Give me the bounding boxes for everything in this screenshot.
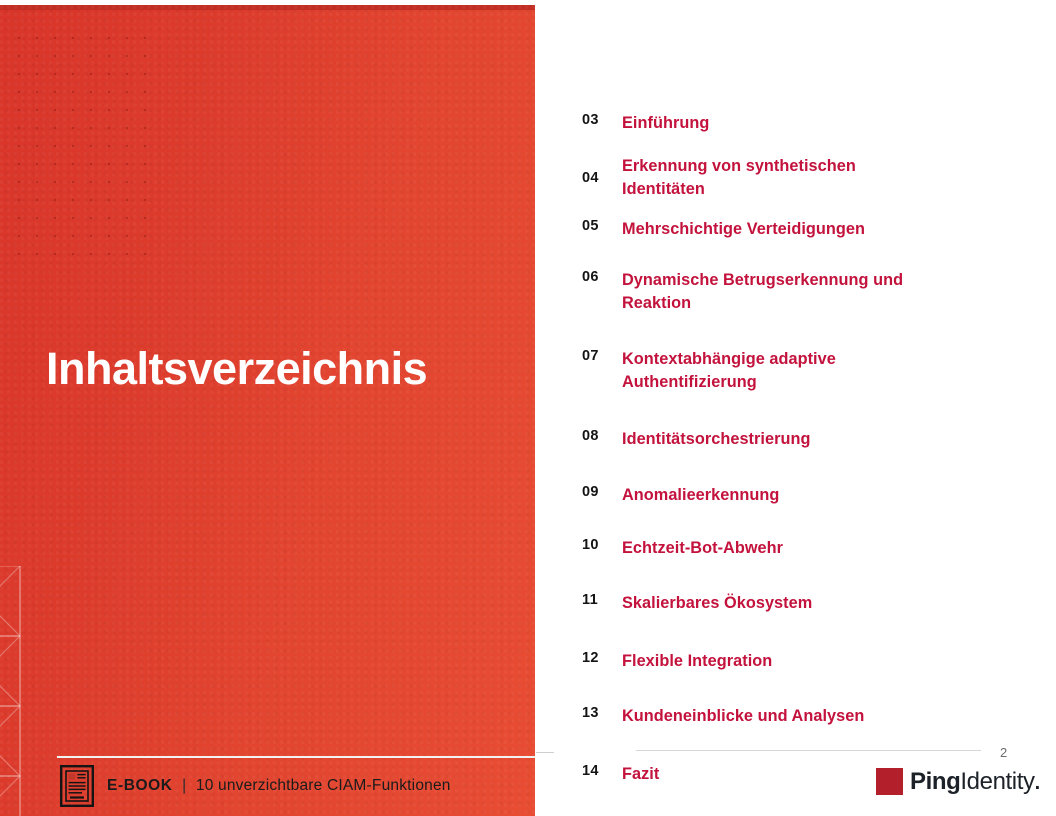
toc-entry[interactable]: 07 Kontextabhängige adaptive Authentifiz… xyxy=(560,348,1020,394)
toc-entry[interactable]: 11 Skalierbares Ökosystem xyxy=(560,592,1020,615)
toc-title[interactable]: Dynamische Betrugserkennung und Reaktion xyxy=(622,269,967,315)
toc-number: 07 xyxy=(560,348,622,364)
toc-title[interactable]: Erkennung von synthetischen Identitäten xyxy=(622,155,922,201)
document-icon xyxy=(60,765,94,807)
page-number: 2 xyxy=(1000,745,1007,760)
left-red-panel: Inhaltsverzeichnis E-BOOK | xyxy=(0,5,535,816)
toc-entry[interactable]: 13 Kundeneinblicke und Analysen xyxy=(560,705,1020,728)
toc-number: 13 xyxy=(560,705,622,721)
toc-number: 14 xyxy=(560,763,622,779)
brand-name-identity: Identity xyxy=(960,768,1034,795)
toc-title[interactable]: Anomalieerkennung xyxy=(622,484,1020,507)
panel-top-edge xyxy=(0,5,535,10)
toc-number: 10 xyxy=(560,537,622,553)
toc-title[interactable]: Kundeneinblicke und Analysen xyxy=(622,705,1020,728)
brand-dot: . xyxy=(1035,772,1040,794)
toc-title[interactable]: Skalierbares Ökosystem xyxy=(622,592,1020,615)
toc-entry[interactable]: 12 Flexible Integration xyxy=(560,650,1020,673)
toc-number: 12 xyxy=(560,650,622,666)
toc-title[interactable]: Identitätsorchestrierung xyxy=(622,428,1020,451)
toc-entry[interactable]: 10 Echtzeit-Bot-Abwehr xyxy=(560,537,1020,560)
toc-title[interactable]: Flexible Integration xyxy=(622,650,1020,673)
toc-number: 09 xyxy=(560,484,622,500)
toc-entry[interactable]: 09 Anomalieerkennung xyxy=(560,484,1020,507)
panel-footer-divider xyxy=(57,756,535,758)
toc-entry[interactable]: 08 Identitätsorchestrierung xyxy=(560,428,1020,451)
ebook-footer-text: E-BOOK | 10 unverzichtbare CIAM-Funktion… xyxy=(107,777,451,795)
toc-number: 04 xyxy=(560,155,622,186)
toc-number: 08 xyxy=(560,428,622,444)
ebook-label: E-BOOK xyxy=(107,777,173,794)
dot-grid-decoration xyxy=(8,27,160,259)
toc-entry[interactable]: 03 Einführung xyxy=(560,112,1020,135)
ebook-footer: E-BOOK | 10 unverzichtbare CIAM-Funktion… xyxy=(60,765,451,807)
page-title: Inhaltsverzeichnis xyxy=(46,344,427,394)
footer-divider-stub xyxy=(536,752,554,753)
ebook-separator: | xyxy=(177,777,191,794)
toc-title[interactable]: Echtzeit-Bot-Abwehr xyxy=(622,537,1020,560)
toc-number: 11 xyxy=(560,592,622,608)
toc-entry[interactable]: 05 Mehrschichtige Verteidigungen xyxy=(560,218,1020,241)
toc-entry[interactable]: 04 Erkennung von synthetischen Identität… xyxy=(560,155,1020,201)
table-of-contents: 03 Einführung 04 Erkennung von synthetis… xyxy=(560,104,1020,786)
brand-name-ping: Ping xyxy=(910,768,960,795)
toc-title[interactable]: Mehrschichtige Verteidigungen xyxy=(622,218,1020,241)
toc-number: 05 xyxy=(560,218,622,234)
ping-square-icon xyxy=(876,768,903,795)
ebook-subtitle: 10 unverzichtbare CIAM-Funktionen xyxy=(196,777,451,794)
toc-title[interactable]: Kontextabhängige adaptive Authentifizier… xyxy=(622,348,907,394)
toc-number: 06 xyxy=(560,269,622,285)
toc-footer-divider xyxy=(636,750,981,751)
toc-number: 03 xyxy=(560,112,622,128)
brand-wordmark: PingIdentity. xyxy=(910,770,1040,794)
ping-identity-logo: PingIdentity. xyxy=(876,768,1040,795)
toc-title[interactable]: Einführung xyxy=(622,112,1020,135)
toc-entry[interactable]: 06 Dynamische Betrugserkennung und Reakt… xyxy=(560,269,1020,315)
